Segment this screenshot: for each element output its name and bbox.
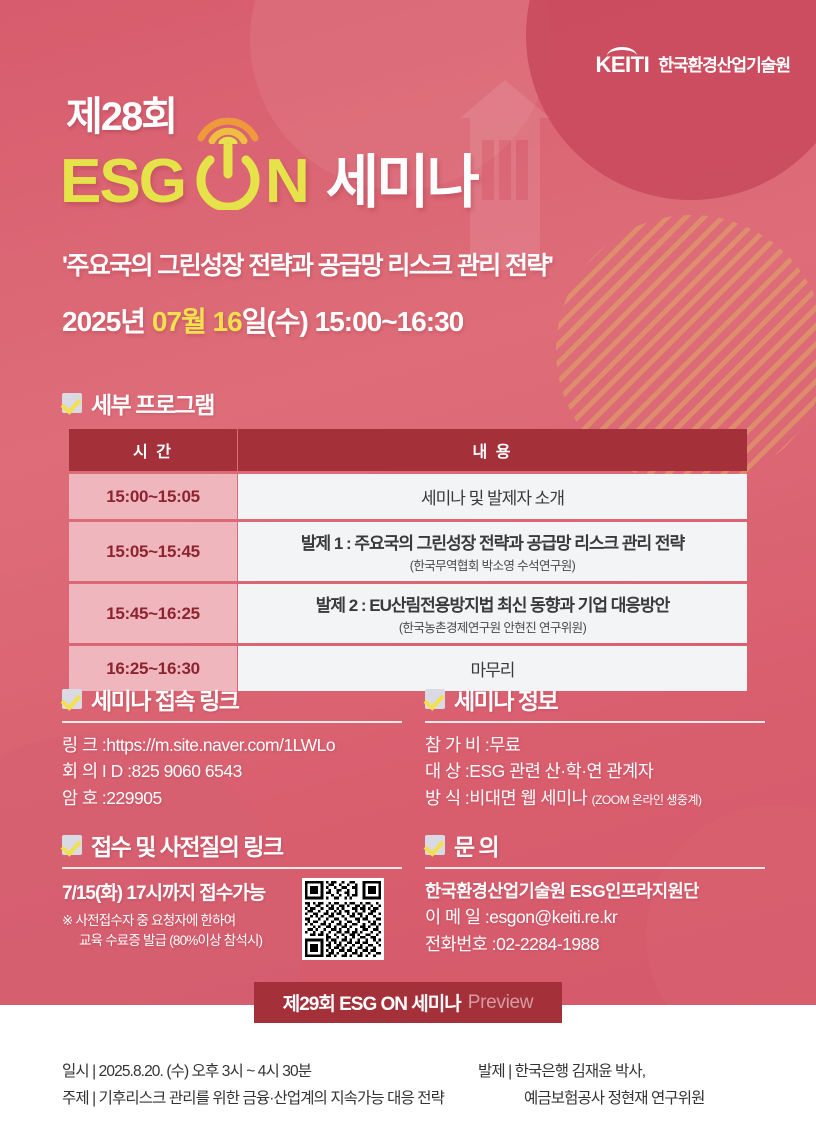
audience-row: 대 상 : ESG 관련 산·학·연 관계자 — [425, 758, 765, 784]
preview-topic-row: 주제 | 기후리스크 관리를 위한 금융·산업계의 지속가능 대응 전략 — [62, 1085, 444, 1112]
divider — [425, 721, 765, 723]
cell-content: 발제 2 : EU산림전용방지법 최신 동향과 기업 대응방안 (한국농촌경제연… — [238, 584, 747, 643]
contact-phone-row: 전화번호 : 02-2284-1988 — [425, 931, 765, 957]
preview-date-value: 2025.8.20. (수) 오후 3시 ~ 4시 30분 — [99, 1063, 311, 1080]
edition-number: 제28회 — [66, 84, 176, 142]
audience-value: ESG 관련 산·학·연 관계자 — [469, 761, 653, 781]
checkbox-check-icon — [62, 393, 82, 413]
poster-subtitle: '주요국의 그린성장 전략과 공급망 리스크 관리 전략' — [62, 246, 552, 282]
access-link-key: 링 크 : — [62, 732, 106, 758]
access-link-url[interactable]: https://m.site.naver.com/1LWLo — [106, 735, 335, 755]
format-value: 비대면 웹 세미나 — [469, 788, 591, 808]
title-seminar-text: 세미나 — [326, 154, 477, 212]
keiti-swoosh-icon — [607, 47, 637, 56]
program-section-heading: 세부 프로그램 — [62, 386, 214, 420]
preview-banner-title: 제29회 ESG ON 세미나 — [283, 989, 461, 1016]
table-header-row: 시 간 내 용 — [69, 429, 747, 471]
column-header-content: 내 용 — [238, 429, 747, 471]
preview-details-right: 발제 | 한국은행 김재윤 박사, 예금보험공사 정현재 연구위원 — [478, 1058, 705, 1112]
table-row: 15:00~15:05 세미나 및 발제자 소개 — [69, 474, 747, 519]
divider — [62, 867, 402, 869]
seminar-info-heading: 세미나 정보 — [425, 682, 765, 716]
cell-time: 15:05~15:45 — [69, 522, 237, 581]
access-password-row: 암 호 : 229905 — [62, 785, 402, 811]
keiti-logo-mark: KEITI — [596, 50, 650, 76]
cell-time: 15:45~16:25 — [69, 584, 237, 643]
wifi-signal-icon — [197, 108, 259, 144]
access-link-heading: 세미나 접속 링크 — [62, 682, 402, 716]
email-value[interactable]: esgon@keiti.re.kr — [489, 907, 617, 927]
session-speaker: (한국농촌경제연구원 안현진 연구위원) — [244, 617, 741, 636]
access-link-section: 세미나 접속 링크 링 크 : https://m.site.naver.com… — [62, 682, 402, 811]
qr-code-icon — [305, 881, 381, 957]
fee-row: 참 가 비 : 무료 — [425, 732, 765, 758]
session-speaker: (한국무역협회 박소영 수석연구원) — [244, 555, 741, 574]
access-link-row: 링 크 : https://m.site.naver.com/1LWLo — [62, 732, 402, 758]
audience-key: 대 상 : — [425, 758, 469, 784]
contact-heading-label: 문 의 — [454, 828, 498, 862]
registration-qr-code[interactable] — [302, 878, 384, 960]
phone-key: 전화번호 : — [425, 931, 496, 957]
preview-date-row: 일시 | 2025.8.20. (수) 오후 3시 ~ 4시 30분 — [62, 1058, 444, 1085]
access-link-heading-label: 세미나 접속 링크 — [91, 682, 238, 716]
event-datetime: 2025년 07월 16일(수) 15:00~16:30 — [62, 300, 463, 340]
title-on-text: N — [265, 153, 308, 212]
preview-speaker-value-2: 예금보험공사 정현재 연구위원 — [524, 1090, 705, 1107]
registration-heading: 접수 및 사전질의 링크 — [62, 828, 402, 862]
divider — [62, 721, 402, 723]
checkbox-check-icon — [425, 689, 445, 709]
checkbox-check-icon — [62, 835, 82, 855]
preview-speaker-label: 발제 | — [478, 1063, 515, 1080]
preview-details-left: 일시 | 2025.8.20. (수) 오후 3시 ~ 4시 30분 주제 | … — [62, 1058, 444, 1112]
program-table: 시 간 내 용 15:00~15:05 세미나 및 발제자 소개 15:05~1… — [68, 426, 748, 694]
registration-heading-label: 접수 및 사전질의 링크 — [91, 828, 283, 862]
seminar-info-heading-label: 세미나 정보 — [454, 682, 557, 716]
date-rest: 일(수) 15:00~16:30 — [242, 306, 464, 337]
phone-value: 02-2284-1988 — [496, 934, 599, 954]
meeting-id-key: 회 의 I D : — [62, 758, 132, 784]
keiti-logo: KEITI 한국환경산업기술원 — [596, 50, 791, 76]
seminar-info-section: 세미나 정보 참 가 비 : 무료 대 상 : ESG 관련 산·학·연 관계자… — [425, 682, 765, 811]
preview-date-label: 일시 | — [62, 1063, 99, 1080]
preview-topic-label: 주제 | — [62, 1090, 99, 1107]
checkbox-check-icon — [62, 689, 82, 709]
date-space — [206, 306, 213, 337]
email-key: 이 메 일 : — [425, 904, 489, 930]
contact-heading: 문 의 — [425, 828, 765, 862]
preview-speaker-row-2: 예금보험공사 정현재 연구위원 — [478, 1085, 705, 1112]
preview-banner: 제29회 ESG ON 세미나 Preview — [254, 982, 562, 1023]
footer: 일시 | 2025.8.20. (수) 오후 3시 ~ 4시 30분 주제 | … — [0, 1005, 816, 1145]
session-title: 발제 2 : EU산림전용방지법 최신 동향과 기업 대응방안 — [244, 591, 741, 616]
program-heading-label: 세부 프로그램 — [91, 386, 214, 420]
format-note: (ZOOM 온라인 생중계) — [592, 793, 702, 807]
date-year: 2025년 — [62, 306, 152, 337]
preview-speaker-value: 한국은행 김재윤 박사, — [515, 1063, 645, 1080]
cell-content: 세미나 및 발제자 소개 — [238, 474, 747, 519]
table-row: 15:05~15:45 발제 1 : 주요국의 그린성장 전략과 공급망 리스크… — [69, 522, 747, 581]
keiti-org-name: 한국환경산업기술원 — [658, 51, 790, 76]
main-title: ESG N 세미나 — [60, 140, 477, 212]
preview-banner-tag: Preview — [468, 992, 533, 1014]
date-day: 16 — [213, 306, 242, 337]
table-row: 15:45~16:25 발제 2 : EU산림전용방지법 최신 동향과 기업 대… — [69, 584, 747, 643]
session-title: 발제 1 : 주요국의 그린성장 전략과 공급망 리스크 관리 전략 — [244, 529, 741, 554]
preview-topic-value: 기후리스크 관리를 위한 금융·산업계의 지속가능 대응 전략 — [99, 1090, 444, 1107]
password-key: 암 호 : — [62, 785, 106, 811]
contact-section: 문 의 한국환경산업기술원 ESG인프라지원단 이 메 일 : esgon@ke… — [425, 828, 765, 957]
format-key: 방 식 : — [425, 785, 469, 811]
column-header-time: 시 간 — [69, 429, 237, 471]
format-row: 방 식 : 비대면 웹 세미나 (ZOOM 온라인 생중계) — [425, 785, 765, 811]
registration-note-line1: ※ 사전접수자 중 요청자에 한하여 — [62, 913, 235, 928]
preview-speaker-row: 발제 | 한국은행 김재윤 박사, — [478, 1058, 705, 1085]
poster-body: KEITI 한국환경산업기술원 제28회 ESG N 세미나 '주요국의 그린성… — [0, 0, 816, 1005]
access-meeting-id-row: 회 의 I D : 825 9060 6543 — [62, 758, 402, 784]
fee-key: 참 가 비 : — [425, 732, 489, 758]
cell-content: 발제 1 : 주요국의 그린성장 전략과 공급망 리스크 관리 전략 (한국무역… — [238, 522, 747, 581]
meeting-id-value: 825 9060 6543 — [132, 761, 242, 781]
power-button-icon — [193, 144, 263, 210]
date-month: 07월 — [152, 306, 206, 337]
checkbox-check-icon — [425, 835, 445, 855]
cell-time: 15:00~15:05 — [69, 474, 237, 519]
fee-value: 무료 — [489, 735, 520, 755]
title-esg-text: ESG — [60, 153, 185, 212]
divider — [425, 867, 765, 869]
contact-org: 한국환경산업기술원 ESG인프라지원단 — [425, 878, 765, 904]
contact-email-row: 이 메 일 : esgon@keiti.re.kr — [425, 904, 765, 930]
password-value: 229905 — [106, 788, 161, 808]
power-on-icon — [189, 140, 267, 212]
